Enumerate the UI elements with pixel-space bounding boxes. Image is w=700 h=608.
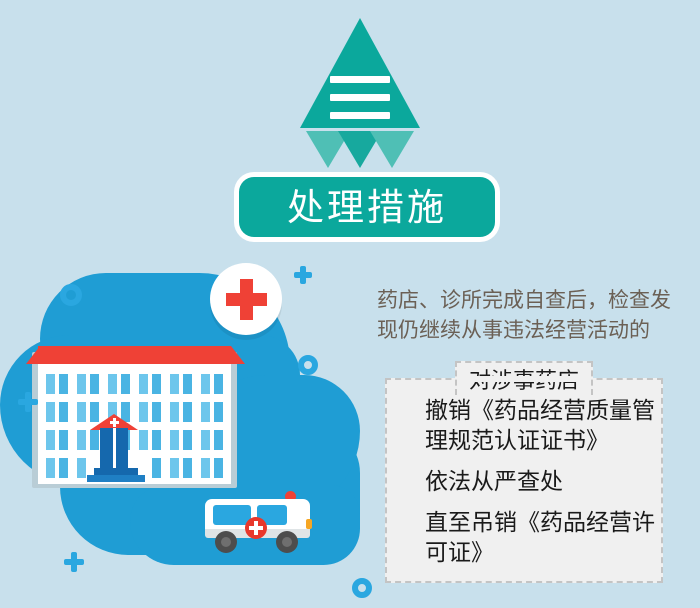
building-window xyxy=(152,430,161,450)
building-window xyxy=(121,374,130,394)
building-window xyxy=(139,430,148,450)
building-window xyxy=(214,458,223,478)
entrance-step-upper xyxy=(94,468,138,475)
list-item: 依法从严查处 xyxy=(425,467,660,497)
building-window xyxy=(183,430,192,450)
building-window xyxy=(59,374,68,394)
ambulance-wheel-front xyxy=(215,531,237,553)
building-window xyxy=(214,430,223,450)
panel-tab-seam xyxy=(457,376,591,382)
building-window xyxy=(201,430,210,450)
building-window xyxy=(59,430,68,450)
building-roof xyxy=(38,346,231,364)
page-title: 处理措施 xyxy=(287,189,447,226)
list-item: 撤销《药品经营质量管理规范认证证书》 xyxy=(425,396,660,456)
canopy-cross-horizontal xyxy=(110,421,119,424)
plus-icon xyxy=(18,392,38,412)
infographic-canvas: 处理措施 xyxy=(0,0,700,608)
ambulance-wheel-rear xyxy=(276,531,298,553)
plus-icon xyxy=(64,552,84,572)
building-window xyxy=(170,402,179,422)
entrance-step-lower xyxy=(87,475,145,482)
building-window xyxy=(170,430,179,450)
building-window xyxy=(201,458,210,478)
building-window xyxy=(170,458,179,478)
building-window xyxy=(139,402,148,422)
building-roof-right-eave xyxy=(231,346,245,364)
list-item: 直至吊销《药品经营许可证》 xyxy=(425,508,660,568)
illustration-group xyxy=(0,255,360,608)
building-window xyxy=(152,402,161,422)
building-window xyxy=(139,374,148,394)
ring-icon xyxy=(298,355,318,375)
emblem-bar-1 xyxy=(330,76,390,83)
building-window xyxy=(59,402,68,422)
building-window xyxy=(152,374,161,394)
building-window xyxy=(77,374,86,394)
measures-list: 撤销《药品经营质量管理规范认证证书》依法从严查处直至吊销《药品经营许可证》 xyxy=(425,396,660,579)
emblem-bar-2 xyxy=(330,94,390,101)
intro-text: 药店、诊所完成自查后，检查发现仍继续从事违法经营活动的 xyxy=(377,285,677,345)
building-window xyxy=(152,458,161,478)
ring-icon xyxy=(352,578,372,598)
section-emblem xyxy=(300,18,420,163)
building-window xyxy=(183,458,192,478)
ring-icon xyxy=(60,284,82,306)
building-window xyxy=(90,430,99,450)
building-window xyxy=(108,374,117,394)
building-window xyxy=(59,458,68,478)
section-title-banner: 处理措施 xyxy=(234,172,500,242)
banner-inner: 处理措施 xyxy=(239,177,495,237)
building-window xyxy=(170,374,179,394)
building-window xyxy=(46,430,55,450)
building-window xyxy=(90,374,99,394)
building-window xyxy=(77,402,86,422)
ambulance-cross-horizontal xyxy=(249,526,263,530)
badge-cross-horizontal xyxy=(226,293,267,306)
plus-icon xyxy=(294,266,312,284)
emblem-sub-triangle-right xyxy=(370,131,414,168)
building-window xyxy=(183,402,192,422)
building-window xyxy=(201,374,210,394)
hospital-building-icon xyxy=(32,338,237,488)
building-window xyxy=(183,374,192,394)
building-window xyxy=(77,430,86,450)
entrance-door-divider xyxy=(113,428,116,468)
ambulance-marker-light xyxy=(306,519,312,529)
building-window xyxy=(46,458,55,478)
building-roof-left-eave xyxy=(26,346,40,364)
building-window xyxy=(201,402,210,422)
building-window xyxy=(214,402,223,422)
building-window xyxy=(77,458,86,478)
emblem-bar-3 xyxy=(330,112,390,119)
ambulance-icon xyxy=(200,485,320,555)
building-window xyxy=(46,402,55,422)
building-window xyxy=(214,374,223,394)
building-window xyxy=(46,374,55,394)
